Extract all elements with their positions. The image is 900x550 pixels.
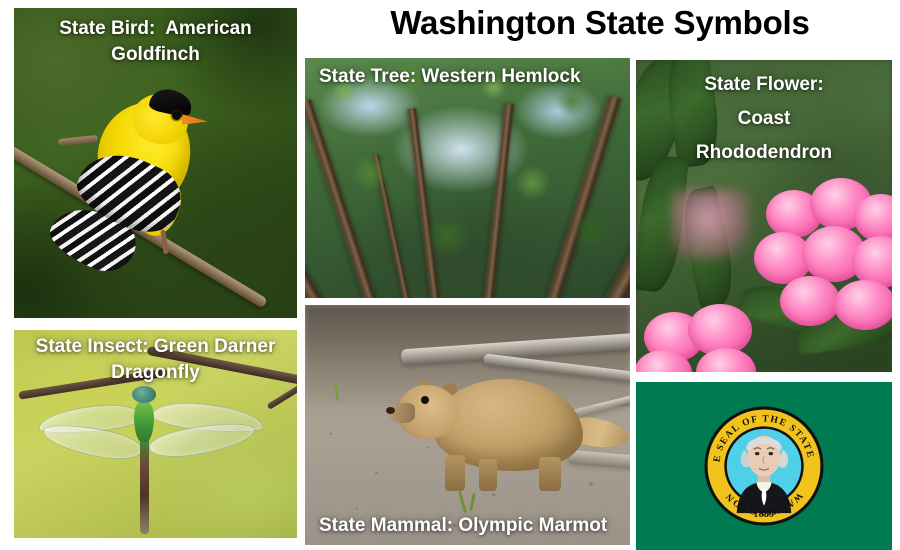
page-title: Washington State Symbols (300, 2, 900, 46)
marmot-leg (539, 457, 561, 491)
marmot-figure (391, 363, 621, 493)
marmot-eye (421, 396, 429, 404)
state-insect-photo-panel[interactable]: State Insect: Green Darner Dragonfly (14, 330, 297, 538)
state-insect-caption: State Insect: Green Darner Dragonfly (14, 334, 297, 386)
hemlock-forest-photo (305, 58, 630, 298)
state-mammal-caption: State Mammal: Olympic Marmot (319, 513, 625, 539)
rhododendron-floret (780, 276, 840, 326)
bird-leg (160, 230, 168, 254)
goldfinch-figure (58, 92, 218, 282)
seal-year: 1889 (753, 510, 774, 520)
background-blossom-blur (672, 190, 750, 260)
state-flag-panel[interactable]: THE SEAL OF THE STATE OF WASHINGTON 1889 (636, 382, 892, 550)
dragonfly-thorax (134, 400, 154, 442)
dragonfly-abdomen (140, 438, 149, 534)
collage-canvas: Washington State Symbols State Bird: Ame… (0, 0, 900, 550)
marmot-leg (445, 455, 465, 491)
dragonfly-figure (36, 382, 276, 532)
rhododendron-flower-cluster (754, 184, 892, 324)
state-mammal-photo-panel[interactable]: State Mammal: Olympic Marmot (305, 305, 630, 545)
state-bird-caption: State Bird: American Goldfinch (14, 16, 297, 68)
dragonfly-head (132, 386, 156, 403)
marmot-leg (479, 459, 497, 491)
state-flower-photo-panel[interactable]: State Flower: Coast Rhododendron (636, 60, 892, 372)
rhododendron-floret (834, 280, 892, 330)
state-seal-graphic: THE SEAL OF THE STATE OF WASHINGTON 1889 (702, 404, 826, 528)
marmot-photo (305, 305, 630, 545)
marmot-nose (386, 407, 395, 414)
bird-eye (172, 111, 181, 120)
state-flower-caption: State Flower: Coast Rhododendron (636, 68, 892, 170)
state-seal: THE SEAL OF THE STATE OF WASHINGTON 1889 (702, 404, 826, 528)
canopy-foliage (305, 58, 630, 298)
rhododendron-flower-cluster-lower (636, 304, 776, 372)
state-bird-photo-panel[interactable]: State Bird: American Goldfinch (14, 8, 297, 318)
state-tree-photo-panel[interactable]: State Tree: Western Hemlock (305, 58, 630, 298)
state-tree-caption: State Tree: Western Hemlock (319, 64, 619, 90)
